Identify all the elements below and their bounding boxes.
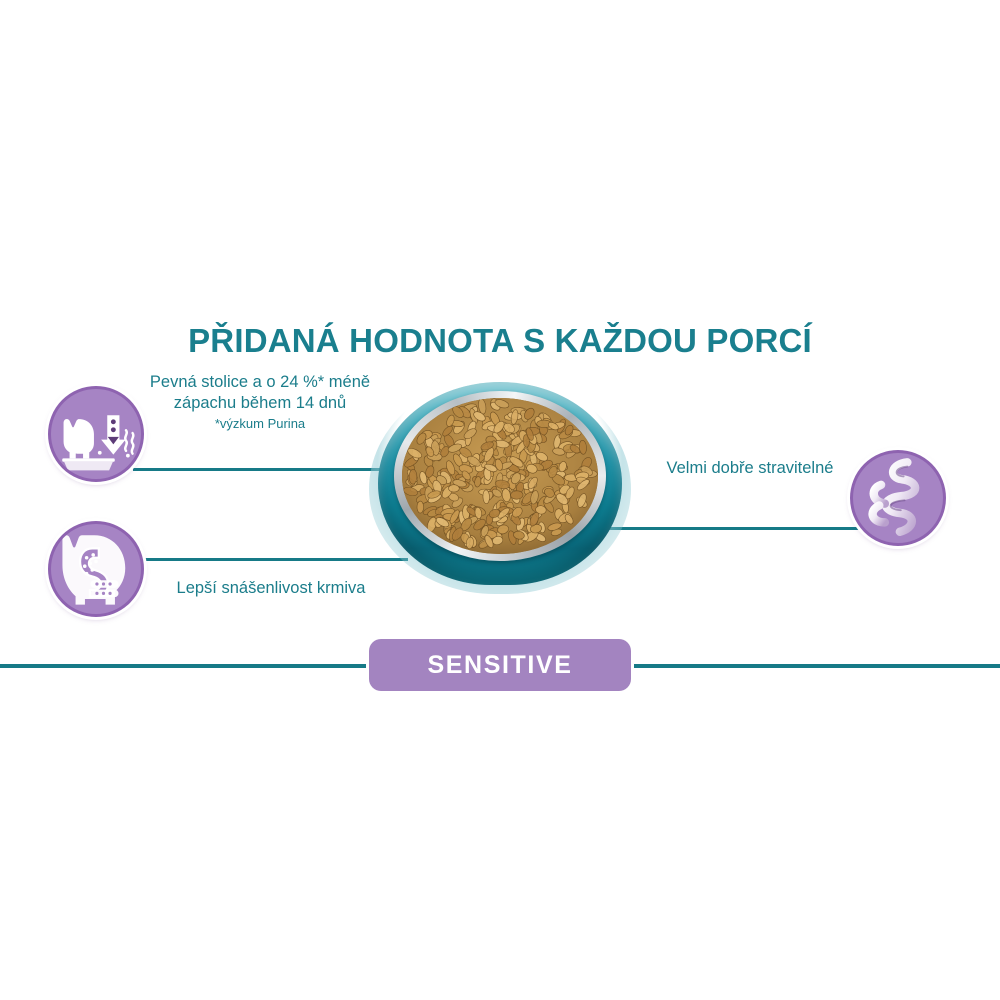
cat-stomach-digestion-icon: [48, 521, 144, 617]
benefit-label-tolerance: Lepší snášenlivost krmiva: [171, 578, 371, 599]
benefit-footnote-odor: *výzkum Purina: [140, 416, 380, 432]
connector-line-tolerance: [133, 558, 408, 561]
page-title: PŘIDANÁ HODNOTA S KAŽDOU PORCÍ: [0, 322, 1000, 360]
benefit-label-odor: Pevná stolice a o 24 %* méně zápachu běh…: [140, 372, 380, 433]
benefit-label-digestibility: Velmi dobře stravitelné: [655, 458, 845, 479]
cat-food-bowl-with-kibble: [369, 376, 631, 596]
kibble-fill: [402, 398, 598, 554]
badge-label: SENSITIVE: [428, 651, 573, 680]
connector-line-digestibility: [600, 527, 866, 530]
cat-litter-box-odor-icon: [48, 386, 144, 482]
benefit-text-digestibility: Velmi dobře stravitelné: [667, 459, 834, 477]
status-badge-sensitive: SENSITIVE: [369, 639, 631, 691]
benefit-text-tolerance: Lepší snášenlivost krmiva: [177, 579, 366, 597]
intestine-icon: [850, 450, 946, 546]
benefit-text-odor: Pevná stolice a o 24 %* méně zápachu běh…: [150, 373, 370, 412]
connector-line-odor: [133, 468, 408, 471]
infographic-canvas: PŘIDANÁ HODNOTA S KAŽDOU PORCÍ: [0, 0, 1000, 1000]
